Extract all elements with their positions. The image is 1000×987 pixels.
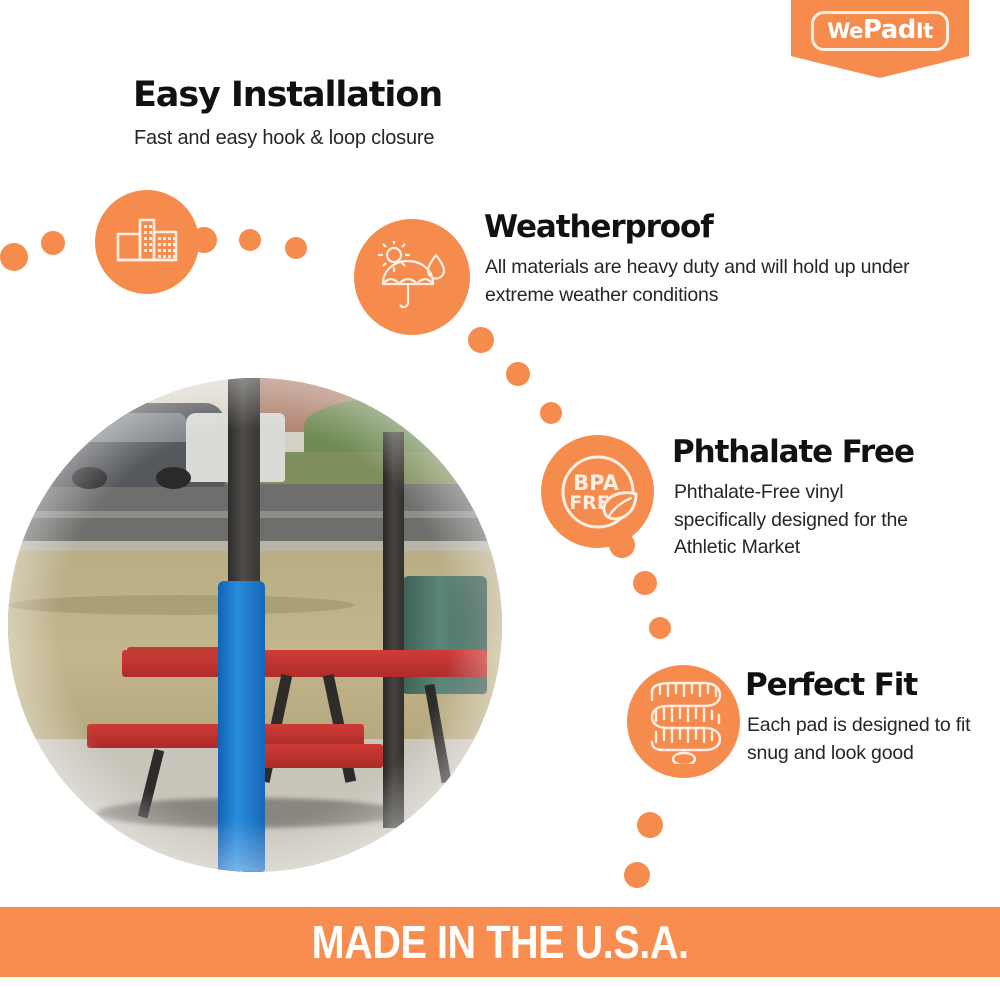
product-photo — [8, 378, 502, 872]
trail-dot — [637, 812, 663, 838]
bpa-free-leaf-icon: BPA FREE — [552, 446, 644, 538]
trail-dot — [624, 862, 650, 888]
photo-lawn-shadow — [8, 595, 354, 615]
logo-text-pad: Pad — [863, 15, 916, 45]
infographic-page: WePadIt Easy Installation Fast and easy … — [0, 0, 1000, 987]
trail-dot — [540, 402, 562, 424]
photo-blue-pole-pad — [218, 581, 265, 872]
logo-text-we: We — [827, 19, 863, 43]
photo-bench-near-right — [255, 744, 383, 769]
logo-outline-frame: WePadIt — [811, 11, 949, 51]
logo-wordmark: WePadIt — [827, 17, 933, 43]
building-icon — [116, 216, 178, 268]
trail-dot — [285, 237, 307, 259]
photo-scene — [8, 378, 502, 872]
trail-dot — [649, 617, 671, 639]
photo-secondary-pole — [383, 432, 404, 827]
feature-title-phthalate-free: Phthalate Free — [672, 437, 914, 468]
made-in-usa-text: MADE IN THE U.S.A. — [312, 915, 689, 969]
icon-circle-phthalate-free[interactable]: BPA FREE — [541, 435, 654, 548]
sun-umbrella-raindrop-icon — [374, 241, 450, 313]
feature-description-easy-installation: Fast and easy hook & loop closure — [134, 124, 554, 152]
icon-circle-weatherproof[interactable] — [354, 219, 470, 335]
trail-dot — [633, 571, 657, 595]
feature-description-perfect-fit: Each pad is designed to fit snug and loo… — [747, 712, 982, 767]
feature-description-phthalate-free: Phthalate-Free vinyl specifically design… — [674, 479, 939, 562]
feature-title-weatherproof: Weatherproof — [484, 212, 713, 243]
made-in-usa-banner: MADE IN THE U.S.A. — [0, 907, 1000, 977]
photo-bench-far — [127, 647, 226, 660]
feature-title-perfect-fit: Perfect Fit — [745, 670, 917, 701]
photo-suv-window — [67, 413, 186, 443]
feature-description-weatherproof: All materials are heavy duty and will ho… — [485, 254, 915, 309]
icon-circle-easy-installation[interactable] — [95, 190, 199, 294]
photo-suv-wheel-front — [72, 467, 107, 489]
trail-dot — [468, 327, 494, 353]
trail-dot — [0, 243, 28, 271]
logo-text-it: It — [916, 19, 933, 43]
feature-title-easy-installation: Easy Installation — [133, 78, 442, 113]
measuring-tape-icon — [642, 680, 726, 764]
photo-suv-wheel-rear — [156, 467, 191, 489]
brand-logo-badge[interactable]: WePadIt — [791, 0, 969, 78]
trail-dot — [41, 231, 65, 255]
trail-dot — [506, 362, 530, 386]
icon-circle-perfect-fit[interactable] — [627, 665, 740, 778]
trail-dot — [239, 229, 261, 251]
